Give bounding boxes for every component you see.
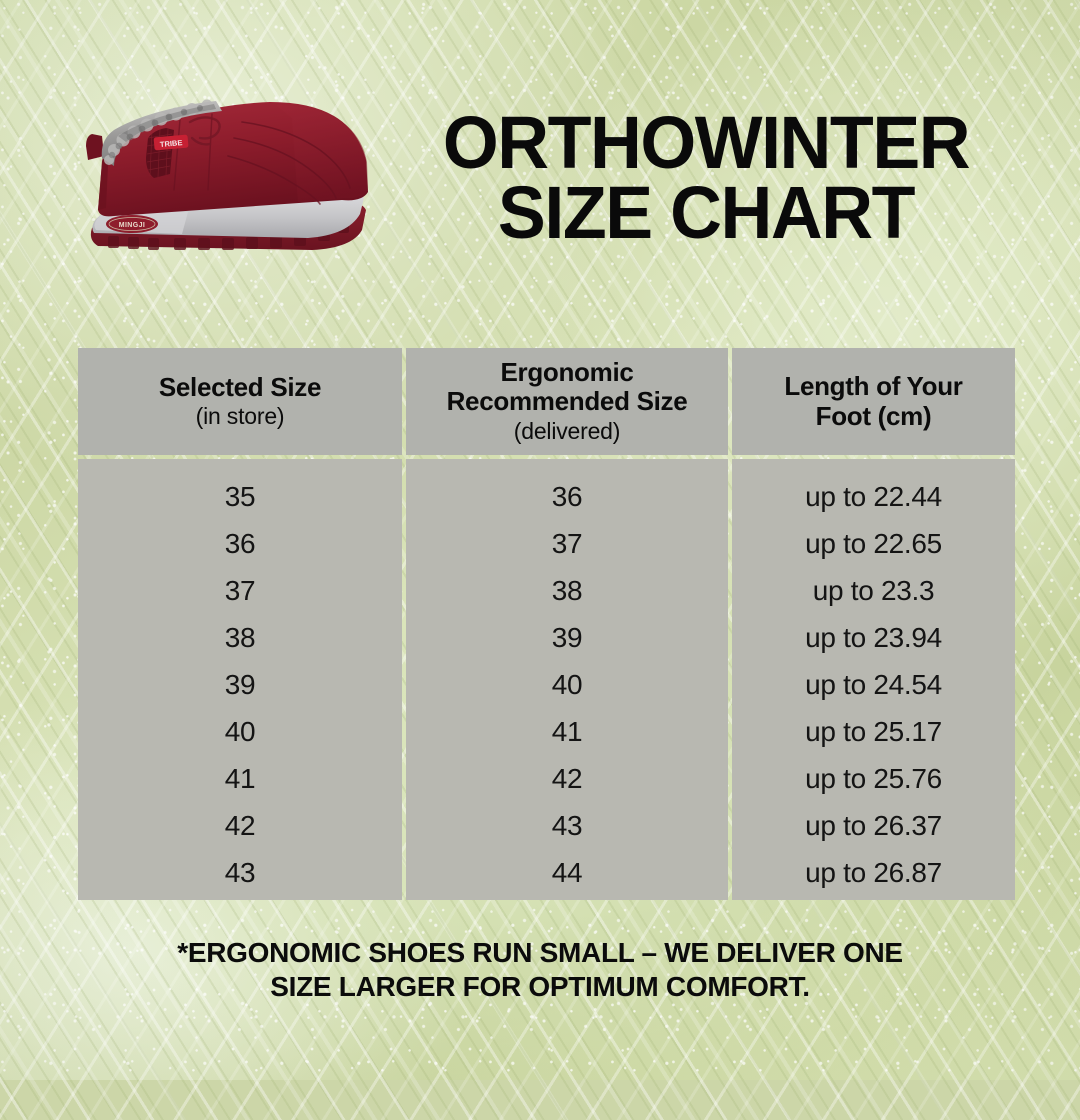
table-cell: 38: [406, 567, 728, 614]
table-cell: up to 26.37: [732, 802, 1015, 849]
table-cell: 41: [78, 755, 402, 802]
title-line-1: ORTHOWINTER: [399, 108, 1012, 178]
table-cell: 42: [406, 755, 728, 802]
table-cell: 35: [78, 473, 402, 520]
table-cell: 39: [78, 661, 402, 708]
table-cell: 43: [78, 849, 402, 896]
table-cell: 37: [78, 567, 402, 614]
svg-text:MINGJI: MINGJI: [119, 222, 146, 229]
header-main-text-b: Recommended Size: [447, 387, 688, 416]
header-sub-text: (in store): [196, 403, 285, 430]
table-cell: up to 23.94: [732, 614, 1015, 661]
table-cell: up to 25.76: [732, 755, 1015, 802]
table-header-recommended-size: Ergonomic Recommended Size (delivered): [406, 348, 728, 455]
header-section: MINGJI: [0, 0, 1080, 330]
table-cell: 39: [406, 614, 728, 661]
table-cell: 44: [406, 849, 728, 896]
header-main-text-a: Ergonomic: [500, 358, 633, 387]
table-cell: 42: [78, 802, 402, 849]
footnote-line-1: *ERGONOMIC SHOES RUN SMALL – WE DELIVER …: [90, 936, 990, 970]
table-cell: 37: [406, 520, 728, 567]
table-header-selected-size: Selected Size (in store): [78, 348, 402, 455]
table-column-selected-size: 35 36 37 38 39 40 41 42 43: [78, 459, 402, 900]
footnote-disclaimer: *ERGONOMIC SHOES RUN SMALL – WE DELIVER …: [90, 936, 990, 1004]
product-image-boot: MINGJI: [62, 78, 382, 273]
table-cell: 36: [406, 473, 728, 520]
table-header-row: Selected Size (in store) Ergonomic Recom…: [78, 348, 1015, 455]
table-cell: up to 26.87: [732, 849, 1015, 896]
table-body: 35 36 37 38 39 40 41 42 43 36 37 38 39 4…: [78, 459, 1015, 900]
table-cell: up to 23.3: [732, 567, 1015, 614]
table-column-foot-length: up to 22.44 up to 22.65 up to 23.3 up to…: [732, 459, 1015, 900]
table-header-foot-length: Length of Your Foot (cm): [732, 348, 1015, 455]
title-line-2: SIZE CHART: [399, 178, 1012, 248]
page-title: ORTHOWINTER SIZE CHART: [399, 108, 1012, 247]
table-cell: 40: [406, 661, 728, 708]
table-cell: 38: [78, 614, 402, 661]
table-cell: up to 25.17: [732, 708, 1015, 755]
table-cell: up to 22.65: [732, 520, 1015, 567]
header-sub-text: (delivered): [514, 418, 620, 445]
table-cell: 36: [78, 520, 402, 567]
table-cell: up to 22.44: [732, 473, 1015, 520]
header-main-text: Selected Size: [159, 373, 321, 402]
table-column-recommended-size: 36 37 38 39 40 41 42 43 44: [406, 459, 728, 900]
header-main-text-a: Length of Your: [784, 372, 962, 401]
footnote-line-2: SIZE LARGER FOR OPTIMUM COMFORT.: [90, 970, 990, 1004]
table-cell: 43: [406, 802, 728, 849]
header-main-text-b: Foot (cm): [816, 402, 932, 431]
table-cell: up to 24.54: [732, 661, 1015, 708]
table-cell: 40: [78, 708, 402, 755]
size-chart-table: Selected Size (in store) Ergonomic Recom…: [78, 348, 1015, 900]
table-cell: 41: [406, 708, 728, 755]
